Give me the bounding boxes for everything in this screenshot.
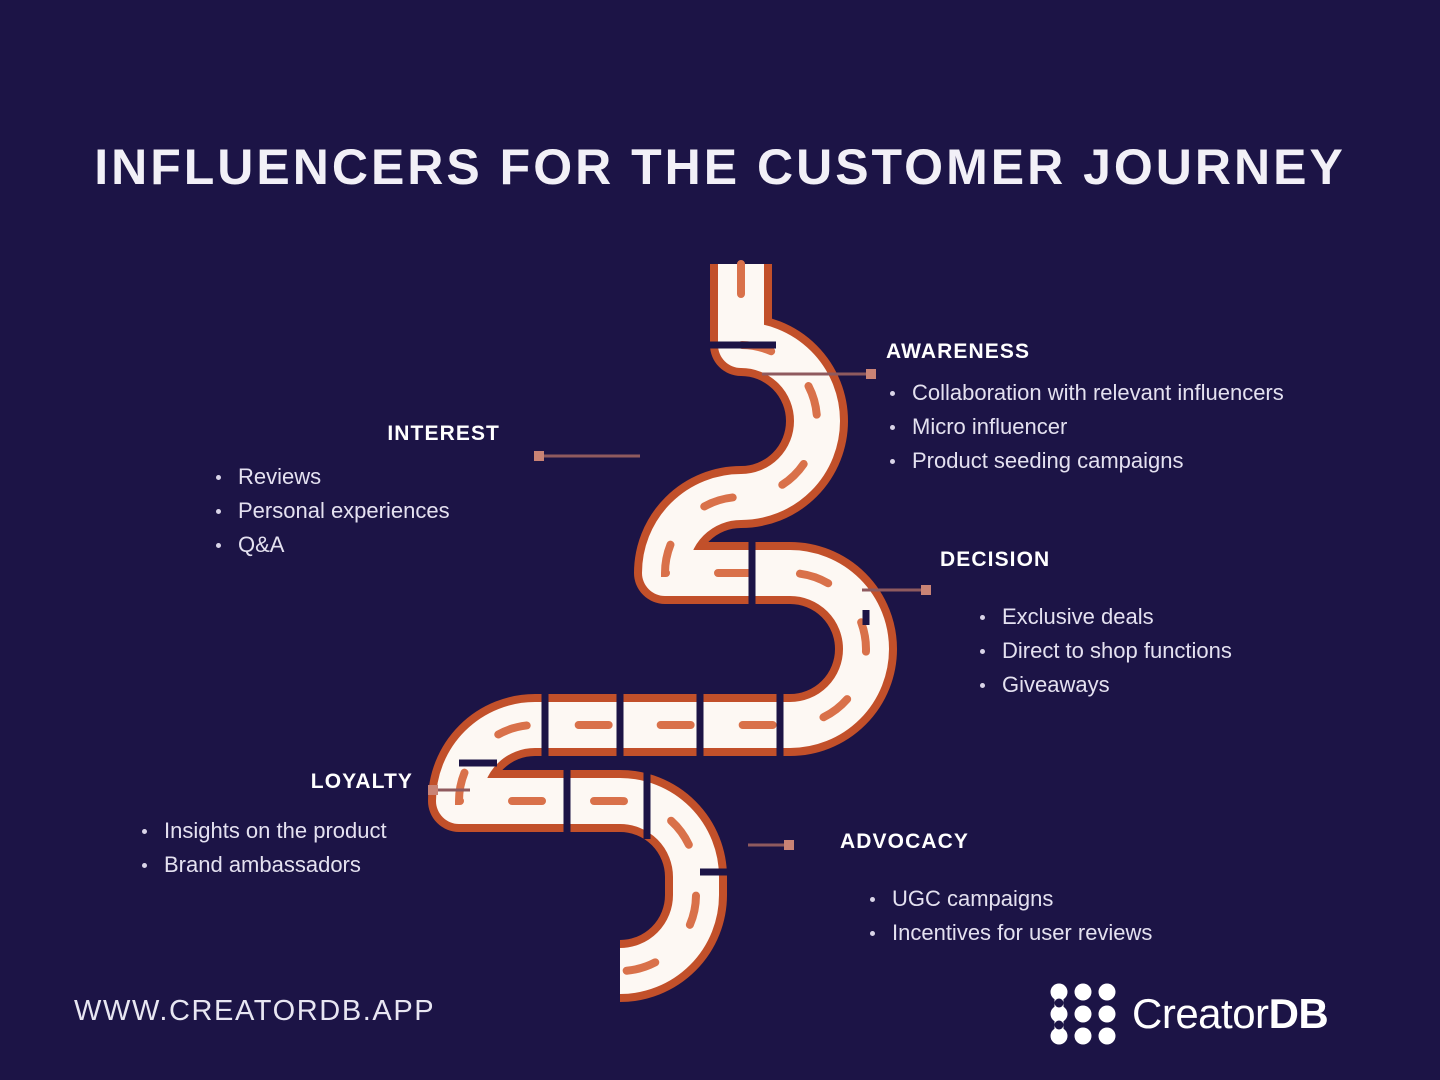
stage-block-decision: DECISION Exclusive deals Direct to shop … (940, 548, 1232, 702)
road-border (459, 264, 866, 971)
list-item: Insights on the product (138, 814, 413, 848)
connector-loyalty (428, 785, 470, 795)
brand-name-light: Creator (1132, 990, 1269, 1037)
list-item: Personal experiences (212, 494, 500, 528)
list-item: Exclusive deals (976, 600, 1232, 634)
list-item: Product seeding campaigns (886, 444, 1284, 478)
footer-website-url[interactable]: WWW.CREATORDB.APP (74, 995, 435, 1028)
connector-interest (534, 451, 640, 461)
list-item: Micro influencer (886, 410, 1284, 444)
page-title: INFLUENCERS FOR THE CUSTOMER JOURNEY (0, 138, 1440, 196)
brand-name-bold: DB (1269, 990, 1329, 1037)
road-surface (459, 264, 866, 971)
list-item: UGC campaigns (866, 882, 1152, 916)
stage-bullets-decision: Exclusive deals Direct to shop functions… (976, 600, 1232, 702)
stage-heading-advocacy: ADVOCACY (840, 830, 1152, 854)
list-item: Brand ambassadors (138, 848, 413, 882)
stage-block-awareness: AWARENESS Collaboration with relevant in… (886, 340, 1284, 478)
road-segment-dividers (459, 345, 866, 872)
stage-block-interest: INTEREST Reviews Personal experiences Q&… (200, 422, 500, 562)
connector-awareness (762, 369, 876, 379)
stage-bullets-awareness: Collaboration with relevant influencers … (886, 376, 1284, 478)
list-item: Incentives for user reviews (866, 916, 1152, 950)
connector-decision (862, 585, 931, 595)
list-item: Collaboration with relevant influencers (886, 376, 1284, 410)
stage-heading-loyalty: LOYALTY (120, 770, 413, 794)
brand-logo: CreatorDB (1046, 983, 1328, 1045)
road-lane-dashes (459, 264, 866, 971)
stage-connectors (428, 369, 931, 850)
infographic-canvas: INFLUENCERS FOR THE CUSTOMER JOURNEY (0, 0, 1440, 1080)
list-item: Giveaways (976, 668, 1232, 702)
stage-bullets-interest: Reviews Personal experiences Q&A (212, 460, 500, 562)
stage-bullets-advocacy: UGC campaigns Incentives for user review… (866, 882, 1152, 950)
stage-block-loyalty: LOYALTY Insights on the product Brand am… (120, 770, 413, 882)
list-item: Q&A (212, 528, 500, 562)
stage-block-advocacy: ADVOCACY UGC campaigns Incentives for us… (840, 830, 1152, 950)
creatordb-dot-grid-icon (1046, 983, 1118, 1045)
connector-advocacy (748, 840, 794, 850)
stage-heading-interest: INTEREST (200, 422, 500, 446)
list-item: Direct to shop functions (976, 634, 1232, 668)
stage-bullets-loyalty: Insights on the product Brand ambassador… (138, 814, 413, 882)
stage-heading-awareness: AWARENESS (886, 340, 1284, 364)
list-item: Reviews (212, 460, 500, 494)
brand-wordmark: CreatorDB (1132, 993, 1328, 1035)
stage-heading-decision: DECISION (940, 548, 1232, 572)
